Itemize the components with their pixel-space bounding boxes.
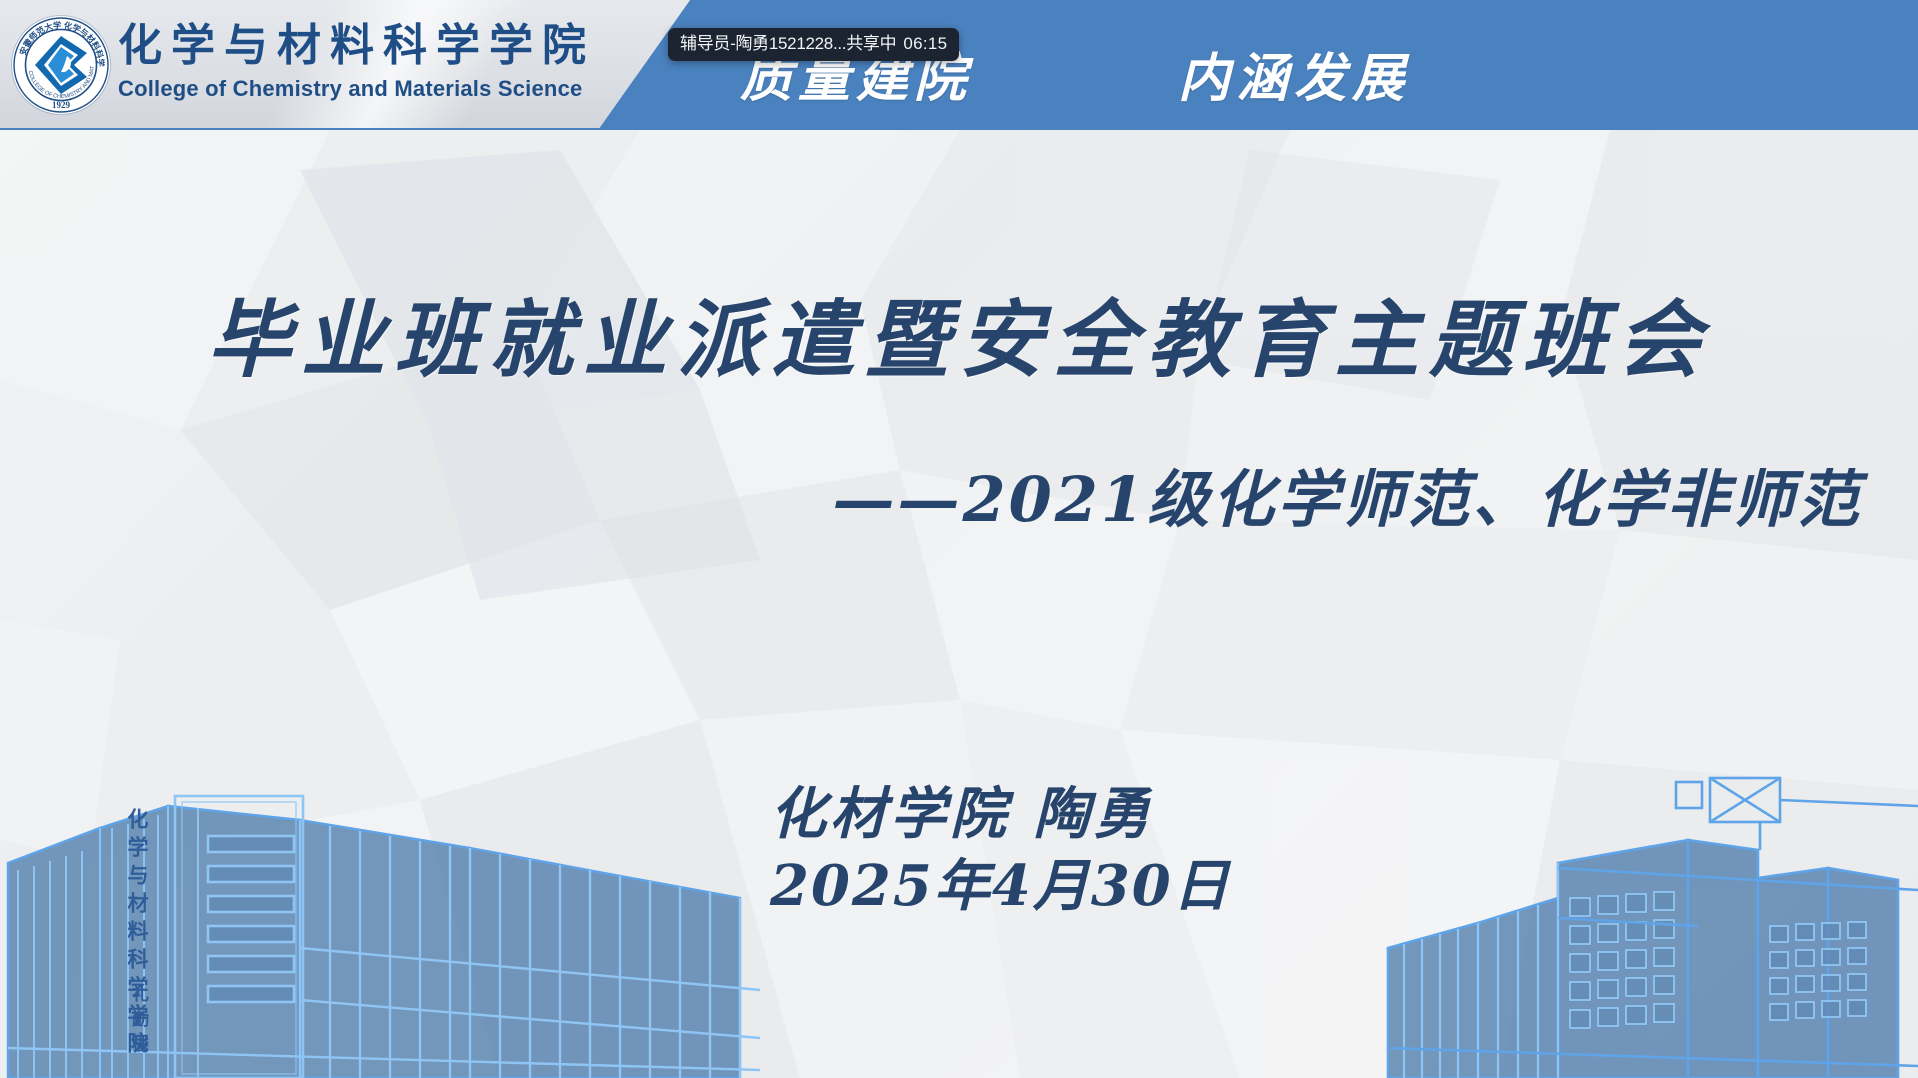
svg-text:1929: 1929	[52, 100, 71, 110]
screen-share-timer: 06:15	[903, 34, 947, 54]
header-divider	[0, 128, 1918, 130]
college-name-en: College of Chemistry and Materials Scien…	[118, 74, 568, 104]
left-building-label-sub: 礼勤楼	[126, 985, 151, 1060]
presentation-slide: 1929 安徽师范大学 化学与材料科学学院 COLLEGE OF CHEMIST…	[0, 0, 1918, 1078]
screen-share-status-banner[interactable]: 辅导员-陶勇1521228...共享中 06:15	[668, 28, 959, 61]
presenter-name: 化材学院 陶勇	[770, 778, 1231, 850]
presenter-block: 化材学院 陶勇 2025年4月30日	[770, 778, 1231, 922]
header-slogan-right: 内涵发展	[1178, 36, 1410, 111]
college-name-block: 化学与材料科学学院 College of Chemistry and Mater…	[118, 20, 568, 104]
presentation-date: 2025年4月30日	[770, 850, 1231, 922]
college-crest-logo: 1929 安徽师范大学 化学与材料科学学院 COLLEGE OF CHEMIST…	[12, 16, 110, 114]
slide-title-subtitle: ——2021级化学师范、化学非师范	[0, 462, 1862, 538]
slide-header: 1929 安徽师范大学 化学与材料科学学院 COLLEGE OF CHEMIST…	[0, 0, 1918, 130]
screen-share-title: 辅导员-陶勇1521228...共享中	[680, 34, 896, 54]
slide-title-main: 毕业班就业派遣暨安全教育主题班会	[0, 288, 1918, 392]
college-name-cn: 化学与材料科学学院	[118, 20, 568, 72]
